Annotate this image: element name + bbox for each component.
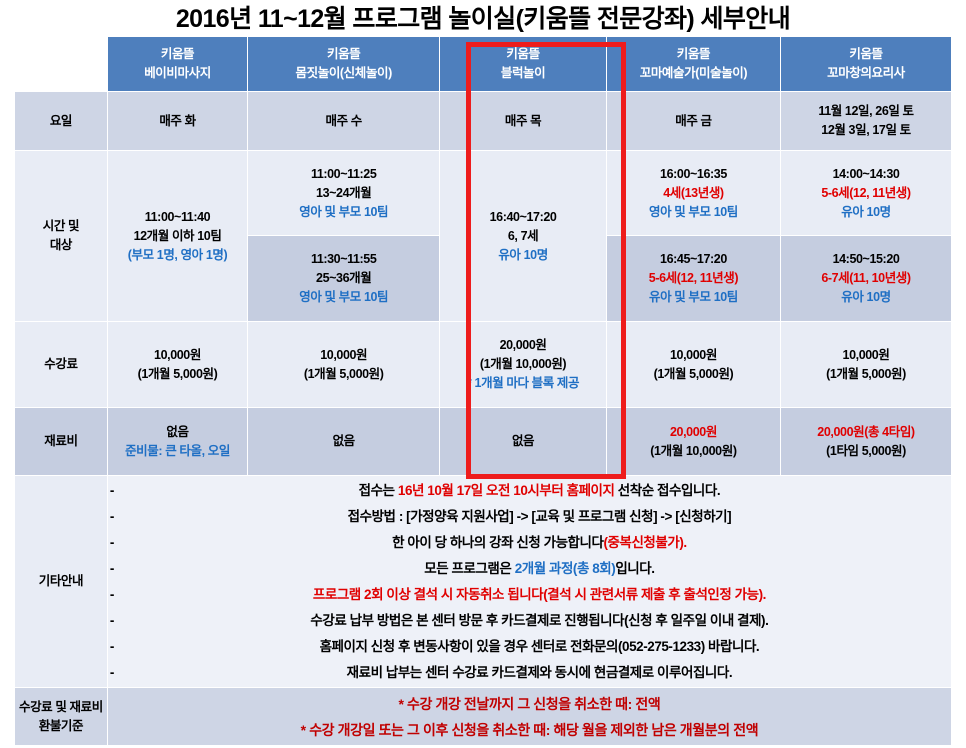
- column-header-4: 키움뜰꼬마예술가(미술놀이): [606, 37, 780, 92]
- row-label-refund: 수강료 및 재료비환불기준: [15, 688, 108, 746]
- materials-cell-3: 없음: [440, 408, 607, 476]
- note-bullet: -: [110, 556, 114, 582]
- column-header-1: 키움뜰베이비마사지: [107, 37, 247, 92]
- cell-line: 5-6세(12, 11년생): [784, 184, 948, 203]
- cell-line: 12개월 이하 10팀: [108, 227, 247, 246]
- cell-line: (1개월 10,000원): [607, 442, 780, 461]
- note-segment: 선착순 접수입니다.: [615, 483, 721, 498]
- refund-cell: * 수강 개강 전날까지 그 신청을 취소한 때: 전액* 수강 개강일 또는 …: [107, 688, 951, 746]
- day-line: 매주 화: [108, 112, 247, 131]
- schedule-table-wrapper: 키움뜰베이비마사지키움뜰몸짓놀이(신체놀이)키움뜰블럭놀이키움뜰꼬마예술가(미술…: [14, 36, 952, 746]
- day-cell-1: 매주 화: [107, 92, 247, 151]
- day-line: 11월 12일, 26일 토: [781, 102, 951, 121]
- tuition-cell-4: 10,000원(1개월 5,000원): [606, 322, 780, 408]
- column-header-line2: 몸짓놀이(신체놀이): [248, 64, 439, 83]
- tuition-cell-5: 10,000원(1개월 5,000원): [781, 322, 952, 408]
- note-segment: 재료비 납부는 센터 수강료 카드결제와 동시에 현금결제로 이루어집니다.: [347, 665, 733, 680]
- note-segment: 2개월 과정(총 8회): [515, 561, 616, 576]
- cell-line: 영아 및 부모 10팀: [251, 203, 436, 222]
- cell-line: 25~36개월: [251, 269, 436, 288]
- column-header-line2: 베이비마사지: [108, 64, 247, 83]
- cell-line: 14:00~14:30: [784, 165, 948, 184]
- cell-line: 10,000원: [607, 346, 780, 365]
- day-cell-4: 매주 금: [606, 92, 780, 151]
- note-segment: 접수는: [359, 483, 398, 498]
- notes-list: -접수는 16년 10월 17일 오전 10시부터 홈페이지 선착순 접수입니다…: [108, 478, 951, 686]
- day-cell-5: 11월 12일, 26일 토12월 3일, 17일 토: [781, 92, 952, 151]
- note-segment: (중복신청불가).: [603, 535, 686, 550]
- cell-line: 유아 10명: [784, 288, 948, 307]
- note-bullet: -: [110, 478, 114, 504]
- time-subcell-top: 16:00~16:354세(13년생)영아 및 부모 10팀: [607, 151, 780, 236]
- column-header-line1: 키움뜰: [440, 45, 606, 64]
- tuition-cell-1: 10,000원(1개월 5,000원): [107, 322, 247, 408]
- cell-line: (1개월 10,000원): [440, 355, 606, 374]
- note-segment: 16년 10월 17일 오전 10시부터 홈페이지: [398, 483, 615, 498]
- column-header-line2: 꼬마예술가(미술놀이): [607, 64, 780, 83]
- day-line: 매주 금: [607, 112, 780, 131]
- cell-line: 유아 10명: [440, 246, 606, 265]
- day-cell-2: 매주 수: [248, 92, 440, 151]
- day-line: 매주 목: [440, 112, 606, 131]
- note-item: -수강료 납부 방법은 본 센터 방문 후 카드결제로 진행됩니다(신청 후 일…: [108, 608, 951, 634]
- tuition-row: 수강료10,000원(1개월 5,000원)10,000원(1개월 5,000원…: [15, 322, 952, 408]
- cell-line: 13~24개월: [251, 184, 436, 203]
- column-header-line1: 키움뜰: [781, 45, 951, 64]
- column-header-line2: 꼬마창의요리사: [781, 64, 951, 83]
- cell-line: (1개월 5,000원): [607, 365, 780, 384]
- schedule-table: 키움뜰베이비마사지키움뜰몸짓놀이(신체놀이)키움뜰블럭놀이키움뜰꼬마예술가(미술…: [14, 36, 952, 746]
- row-label-day: 요일: [15, 92, 108, 151]
- column-header-line1: 키움뜰: [607, 45, 780, 64]
- note-bullet: -: [110, 634, 114, 660]
- note-segment: 입니다.: [615, 561, 654, 576]
- note-item: -프로그램 2회 이상 결석 시 자동취소 됩니다(결석 시 관련서류 제출 후…: [108, 582, 951, 608]
- notes-row: 기타안내-접수는 16년 10월 17일 오전 10시부터 홈페이지 선착순 접…: [15, 476, 952, 688]
- refund-label-line1: 수강료 및 재료비: [15, 698, 107, 717]
- note-bullet: -: [110, 530, 114, 556]
- refund-item: * 수강 개강일 또는 그 이후 신청을 취소한 때: 해당 월을 제외한 남은…: [108, 717, 951, 743]
- row-label-tuition: 수강료: [15, 322, 108, 408]
- tuition-cell-2: 10,000원(1개월 5,000원): [248, 322, 440, 408]
- cell-line: 6, 7세: [440, 227, 606, 246]
- materials-cell-1: 없음준비물: 큰 타올, 오일: [107, 408, 247, 476]
- tuition-cell-3: 20,000원(1개월 10,000원)* 1개월 마다 블록 제공: [440, 322, 607, 408]
- cell-line: 11:00~11:40: [108, 208, 247, 227]
- time-subcell-bottom: 16:45~17:205-6세(12, 11년생)유아 및 부모 10팀: [607, 236, 780, 321]
- time-cell-5: 14:00~14:305-6세(12, 11년생)유아 10명14:50~15:…: [781, 151, 952, 322]
- materials-cell-4: 20,000원(1개월 10,000원): [606, 408, 780, 476]
- cell-line: 20,000원(총 4타임): [781, 423, 951, 442]
- cell-line: 10,000원: [781, 346, 951, 365]
- note-segment: 접수방법 : [가정양육 지원사업] -> [교육 및 프로그램 신청] -> …: [348, 509, 732, 524]
- materials-cell-2: 없음: [248, 408, 440, 476]
- cell-line: 16:45~17:20: [610, 250, 777, 269]
- cell-line: (부모 1명, 영아 1명): [108, 246, 247, 265]
- cell-line: 6-7세(11, 10년생): [784, 269, 948, 288]
- day-line: 12월 3일, 17일 토: [781, 121, 951, 140]
- note-segment: 홈페이지 신청 후 변동사항이 있을 경우 센터로 전화문의(052-275-1…: [320, 639, 760, 654]
- row-label-time-line1: 시간 및: [15, 217, 107, 236]
- note-segment: 프로그램 2회 이상 결석 시 자동취소 됩니다(결석 시 관련서류 제출 후 …: [313, 587, 766, 602]
- time-cell-3: 16:40~17:206, 7세유아 10명: [440, 151, 607, 322]
- note-segment: 한 아이 당 하나의 강좌 신청 가능합니다: [392, 535, 603, 550]
- note-item: -접수방법 : [가정양육 지원사업] -> [교육 및 프로그램 신청] ->…: [108, 504, 951, 530]
- cell-line: 없음: [108, 423, 247, 442]
- cell-line: 준비물: 큰 타올, 오일: [108, 442, 247, 461]
- cell-line: 영아 및 부모 10팀: [610, 203, 777, 222]
- time-row: 시간 및대상11:00~11:4012개월 이하 10팀(부모 1명, 영아 1…: [15, 151, 952, 322]
- row-label-time-line2: 대상: [15, 236, 107, 255]
- header-corner-cell: [15, 37, 108, 92]
- cell-line: (1개월 5,000원): [781, 365, 951, 384]
- column-header-line1: 키움뜰: [108, 45, 247, 64]
- cell-line: 11:30~11:55: [251, 250, 436, 269]
- note-bullet: -: [110, 660, 114, 686]
- cell-line: 16:00~16:35: [610, 165, 777, 184]
- cell-line: (1개월 5,000원): [108, 365, 247, 384]
- cell-line: 5-6세(12, 11년생): [610, 269, 777, 288]
- row-label-time: 시간 및대상: [15, 151, 108, 322]
- materials-cell-5: 20,000원(총 4타임)(1타임 5,000원): [781, 408, 952, 476]
- day-cell-3: 매주 목: [440, 92, 607, 151]
- cell-line: 14:50~15:20: [784, 250, 948, 269]
- header-row: 키움뜰베이비마사지키움뜰몸짓놀이(신체놀이)키움뜰블럭놀이키움뜰꼬마예술가(미술…: [15, 37, 952, 92]
- notes-cell: -접수는 16년 10월 17일 오전 10시부터 홈페이지 선착순 접수입니다…: [107, 476, 951, 688]
- refund-row: 수강료 및 재료비환불기준* 수강 개강 전날까지 그 신청을 취소한 때: 전…: [15, 688, 952, 746]
- cell-line: 10,000원: [248, 346, 439, 365]
- note-item: -홈페이지 신청 후 변동사항이 있을 경우 센터로 전화문의(052-275-…: [108, 634, 951, 660]
- refund-label-line2: 환불기준: [15, 717, 107, 736]
- cell-line: 없음: [440, 432, 606, 451]
- cell-line: 10,000원: [108, 346, 247, 365]
- note-item: -한 아이 당 하나의 강좌 신청 가능합니다(중복신청불가).: [108, 530, 951, 556]
- time-subcell-bottom: 14:50~15:206-7세(11, 10년생)유아 10명: [781, 236, 951, 321]
- column-header-5: 키움뜰꼬마창의요리사: [781, 37, 952, 92]
- note-bullet: -: [110, 504, 114, 530]
- materials-row: 재료비없음준비물: 큰 타올, 오일없음없음20,000원(1개월 10,000…: [15, 408, 952, 476]
- note-item: -접수는 16년 10월 17일 오전 10시부터 홈페이지 선착순 접수입니다…: [108, 478, 951, 504]
- cell-line: 20,000원: [440, 336, 606, 355]
- time-subcell-bottom: 11:30~11:5525~36개월영아 및 부모 10팀: [248, 236, 439, 321]
- row-label-materials: 재료비: [15, 408, 108, 476]
- cell-line: 유아 및 부모 10팀: [610, 288, 777, 307]
- time-cell-1: 11:00~11:4012개월 이하 10팀(부모 1명, 영아 1명): [107, 151, 247, 322]
- cell-line: 4세(13년생): [610, 184, 777, 203]
- note-item: -재료비 납부는 센터 수강료 카드결제와 동시에 현금결제로 이루어집니다.: [108, 660, 951, 686]
- column-header-line2: 블럭놀이: [440, 64, 606, 83]
- note-bullet: -: [110, 582, 114, 608]
- column-header-2: 키움뜰몸짓놀이(신체놀이): [248, 37, 440, 92]
- column-header-line1: 키움뜰: [248, 45, 439, 64]
- time-cell-2: 11:00~11:2513~24개월영아 및 부모 10팀11:30~11:55…: [248, 151, 440, 322]
- refund-item: * 수강 개강 전날까지 그 신청을 취소한 때: 전액: [108, 691, 951, 717]
- note-segment: 수강료 납부 방법은 본 센터 방문 후 카드결제로 진행됩니다(신청 후 일주…: [310, 613, 768, 628]
- day-row: 요일매주 화매주 수매주 목매주 금11월 12일, 26일 토12월 3일, …: [15, 92, 952, 151]
- page-title: 2016년 11~12월 프로그램 놀이실(키움뜰 전문강좌) 세부안내: [0, 0, 966, 34]
- cell-line: 16:40~17:20: [440, 208, 606, 227]
- time-cell-4: 16:00~16:354세(13년생)영아 및 부모 10팀16:45~17:2…: [606, 151, 780, 322]
- note-bullet: -: [110, 608, 114, 634]
- cell-line: 없음: [248, 432, 439, 451]
- column-header-3: 키움뜰블럭놀이: [440, 37, 607, 92]
- time-subcell-top: 14:00~14:305-6세(12, 11년생)유아 10명: [781, 151, 951, 236]
- cell-line: 11:00~11:25: [251, 165, 436, 184]
- note-item: -모든 프로그램은 2개월 과정(총 8회)입니다.: [108, 556, 951, 582]
- cell-line: (1타임 5,000원): [781, 442, 951, 461]
- time-subcell-top: 11:00~11:2513~24개월영아 및 부모 10팀: [248, 151, 439, 236]
- note-segment: 모든 프로그램은: [424, 561, 514, 576]
- cell-line: 영아 및 부모 10팀: [251, 288, 436, 307]
- cell-line: (1개월 5,000원): [248, 365, 439, 384]
- day-line: 매주 수: [248, 112, 439, 131]
- row-label-notes: 기타안내: [15, 476, 108, 688]
- cell-line: 20,000원: [607, 423, 780, 442]
- cell-line: 유아 10명: [784, 203, 948, 222]
- cell-line: * 1개월 마다 블록 제공: [440, 374, 606, 393]
